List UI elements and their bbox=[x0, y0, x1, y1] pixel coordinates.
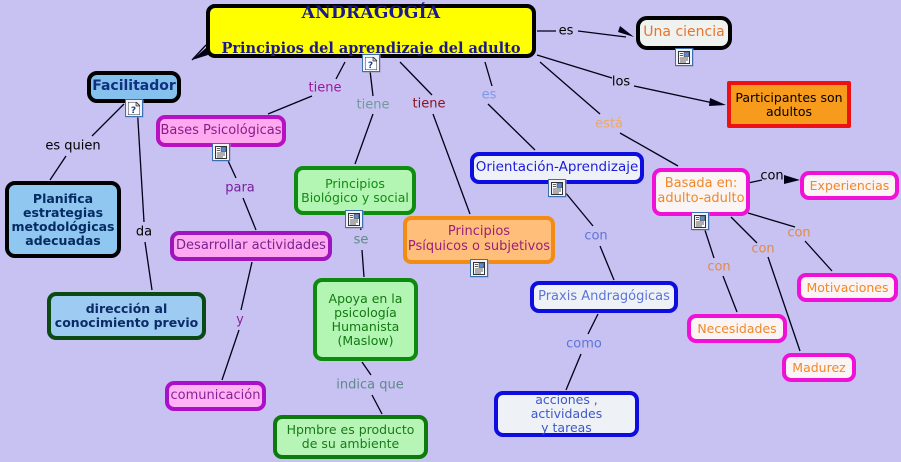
node-participantes-son-adultos[interactable]: Participantes son adultos bbox=[727, 81, 851, 128]
node-praxis-andragogicas[interactable]: Praxis Andragógicas bbox=[530, 281, 678, 313]
node-experiencias[interactable]: Experiencias bbox=[800, 171, 899, 200]
node-necesidades[interactable]: Necesidades bbox=[687, 314, 787, 343]
edge-label-con-experiencias: con bbox=[760, 169, 783, 184]
concept-map-canvas: ANDRAGOGÍA Principios del aprendizaje de… bbox=[0, 0, 901, 462]
node-desarrollar-actividades[interactable]: Desarrollar actividades bbox=[170, 231, 332, 261]
edge-label-es-orientacion: es bbox=[482, 88, 497, 103]
edge-label-con-madurez: con bbox=[751, 242, 774, 257]
edge-label-para: para bbox=[225, 181, 255, 196]
node-una-ciencia[interactable]: Una ciencia bbox=[636, 16, 732, 50]
node-comunicacion[interactable]: comunicación bbox=[165, 381, 266, 411]
edge-label-tiene-psiquicos: tiene bbox=[413, 97, 446, 112]
question-doc-icon[interactable]: ? bbox=[125, 99, 143, 117]
svg-text:?: ? bbox=[368, 61, 373, 70]
image-doc-icon[interactable] bbox=[548, 179, 566, 197]
node-acciones-actividades-tareas[interactable]: acciones , actividades y tareas bbox=[494, 391, 639, 437]
image-doc-icon[interactable] bbox=[345, 210, 363, 228]
edge-label-es-ciencia: es bbox=[559, 24, 574, 39]
edge-label-con-necesidades: con bbox=[707, 260, 730, 275]
node-apoya-psicologia-humanista[interactable]: Apoya en la psicología Humanista (Maslow… bbox=[313, 278, 418, 361]
node-basada-adulto-adulto[interactable]: Basada en: adulto-adulto bbox=[652, 168, 750, 216]
image-doc-icon[interactable] bbox=[470, 259, 488, 277]
node-motivaciones[interactable]: Motivaciones bbox=[797, 273, 898, 302]
node-principios-psiquicos-subjetivos[interactable]: Principios Psíquicos o subjetivos bbox=[403, 216, 555, 264]
edge-label-tiene-bases: tiene bbox=[309, 81, 342, 96]
edge-label-con-motivaciones: con bbox=[787, 226, 810, 241]
edge-label-es-quien: es quien bbox=[45, 139, 100, 154]
node-principios-biologico-social[interactable]: Principios Biológico y social bbox=[294, 166, 416, 215]
edge-label-los-participantes: los bbox=[612, 75, 630, 90]
edge-label-indica-que: indica que bbox=[336, 378, 403, 393]
edge-label-da: da bbox=[136, 225, 152, 240]
image-doc-icon[interactable] bbox=[675, 48, 693, 66]
edge-label-tiene-biologico: tiene bbox=[357, 98, 390, 113]
node-direccion-conocimiento-previo[interactable]: dirección al conocimiento previo bbox=[47, 292, 206, 340]
node-madurez[interactable]: Madurez bbox=[782, 353, 856, 382]
edge-label-con-praxis: con bbox=[584, 229, 607, 244]
edge-label-como: como bbox=[566, 337, 602, 352]
node-central-andragogia[interactable]: ANDRAGOGÍA Principios del aprendizaje de… bbox=[206, 4, 536, 58]
edge-label-esta-basada: está bbox=[595, 117, 623, 132]
edge-label-y: y bbox=[236, 313, 244, 328]
svg-text:?: ? bbox=[131, 106, 136, 115]
image-doc-icon[interactable] bbox=[691, 212, 709, 230]
image-doc-icon[interactable] bbox=[212, 143, 230, 161]
question-doc-icon[interactable]: ? bbox=[362, 54, 380, 72]
node-hombre-producto-ambiente[interactable]: Hpmbre es producto de su ambiente bbox=[273, 415, 428, 459]
node-planifica-estrategias[interactable]: Planifica estrategias metodológicas adec… bbox=[5, 181, 121, 258]
central-title-line1: ANDRAGOGÍA bbox=[222, 4, 521, 23]
edge-label-se: se bbox=[354, 233, 369, 248]
